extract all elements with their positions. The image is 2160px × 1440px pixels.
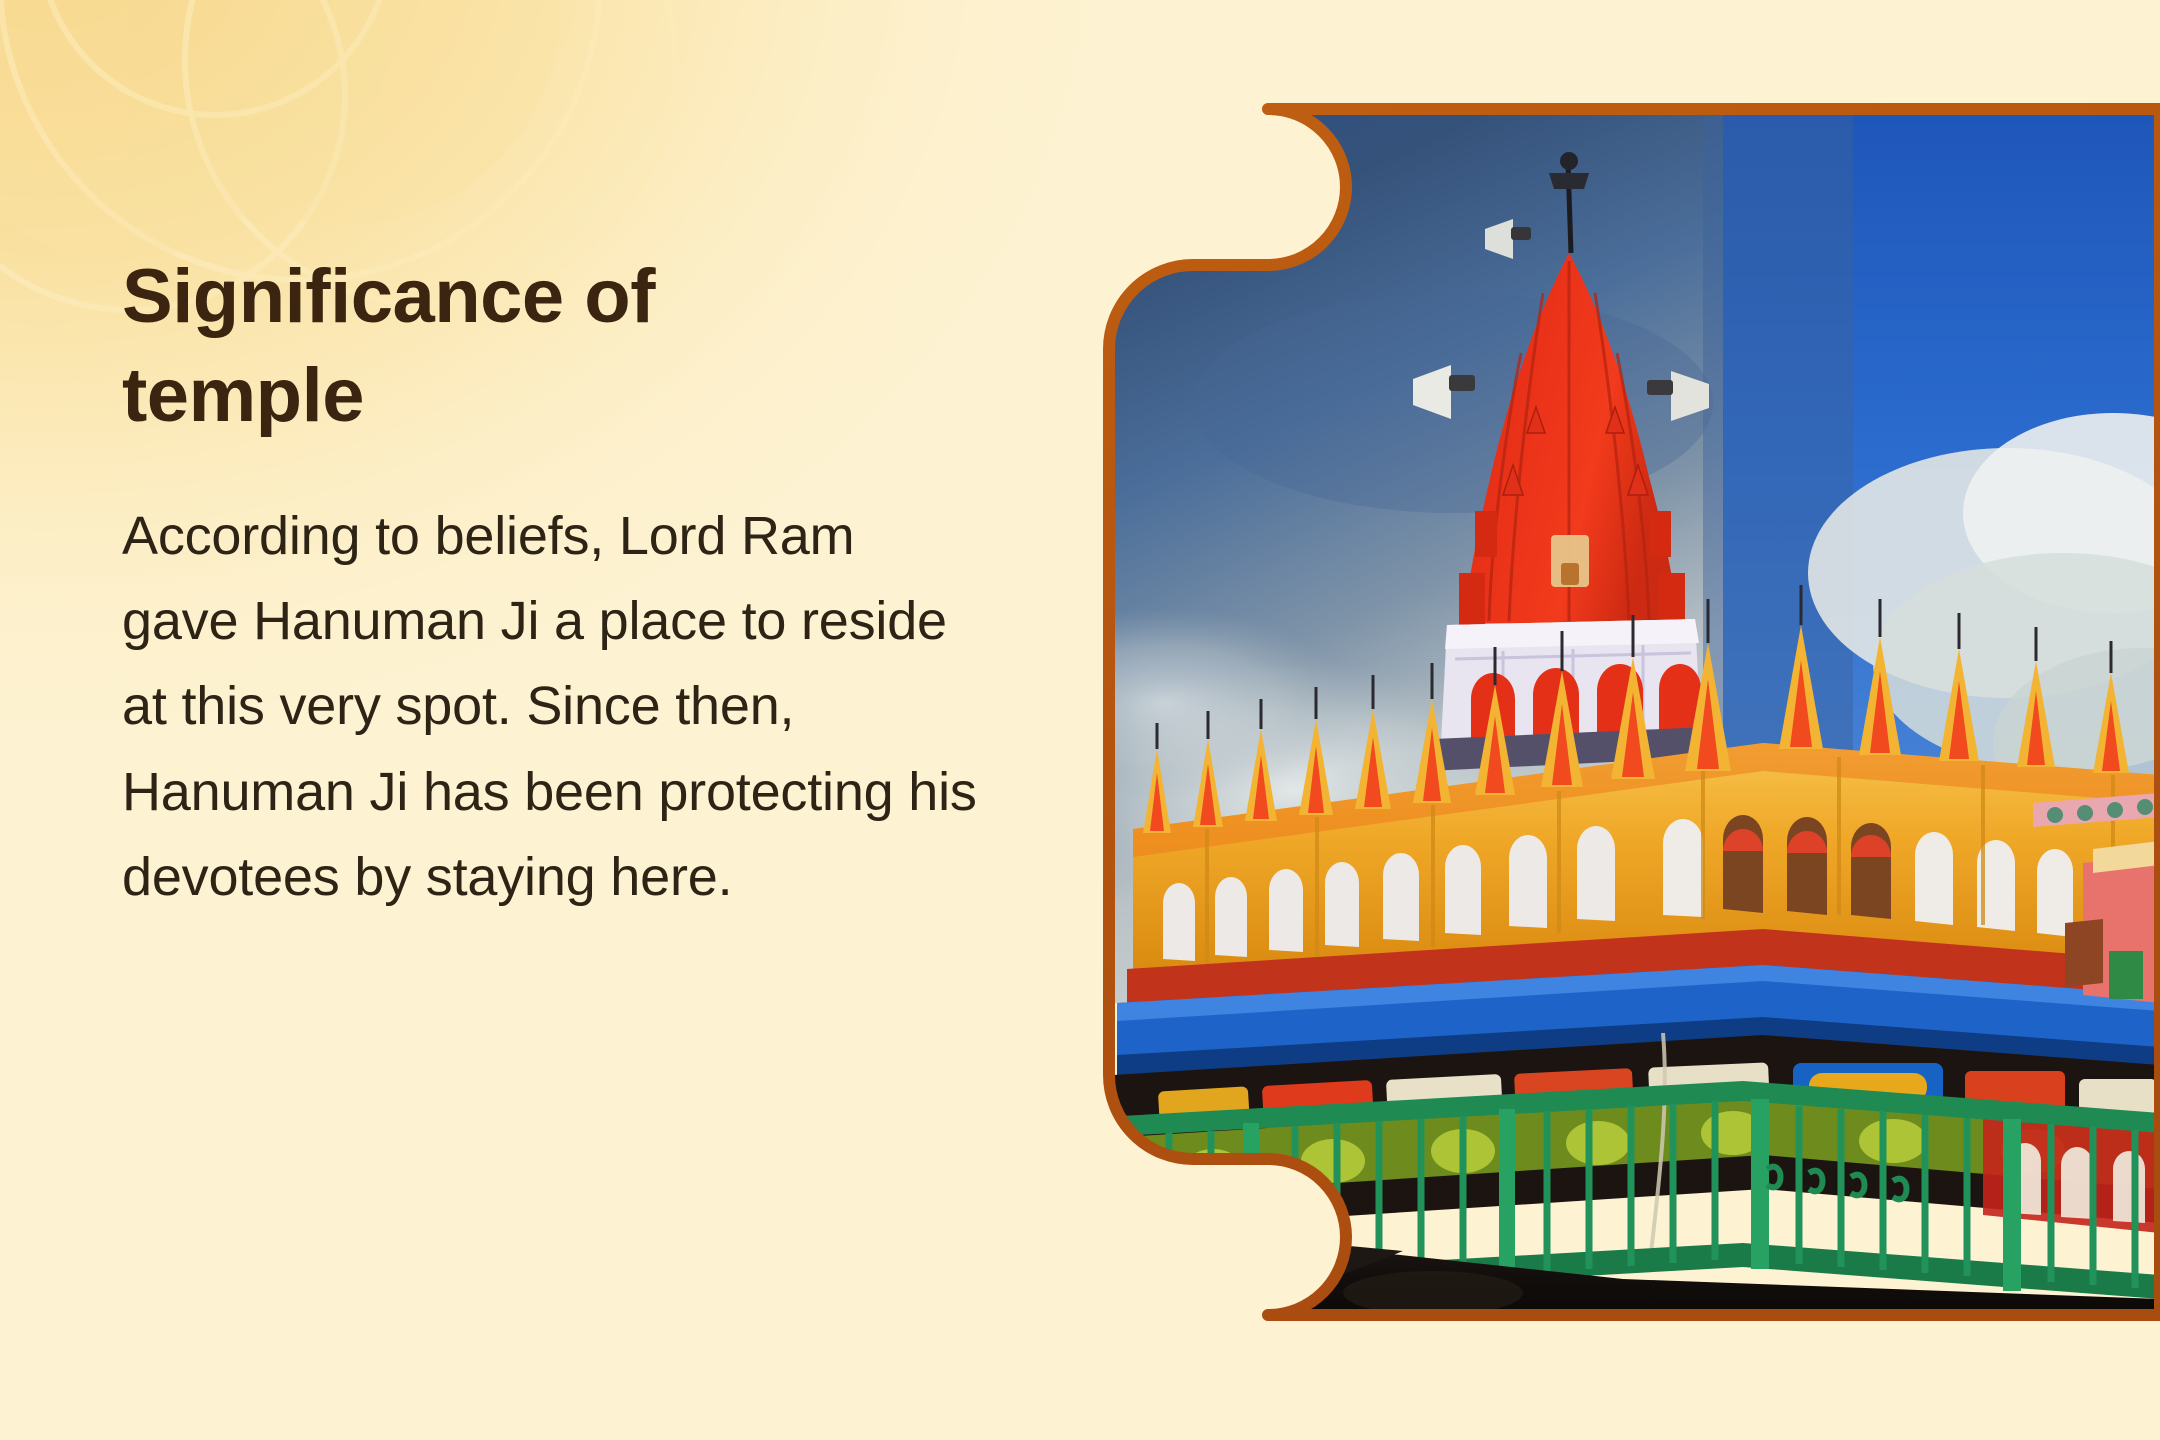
body-paragraph: According to beliefs, Lord Ram gave Hanu… [122, 494, 982, 921]
temple-photo-frame [1103, 103, 2160, 1321]
frieze-wall [1113, 1033, 2160, 1253]
temple-photo [1103, 103, 2160, 1321]
page-title: Significance of temple [122, 248, 822, 446]
slide-root: Significance of temple According to beli… [0, 0, 2160, 1440]
text-column: Significance of temple According to beli… [122, 248, 982, 920]
photo-content [1103, 103, 2160, 1321]
